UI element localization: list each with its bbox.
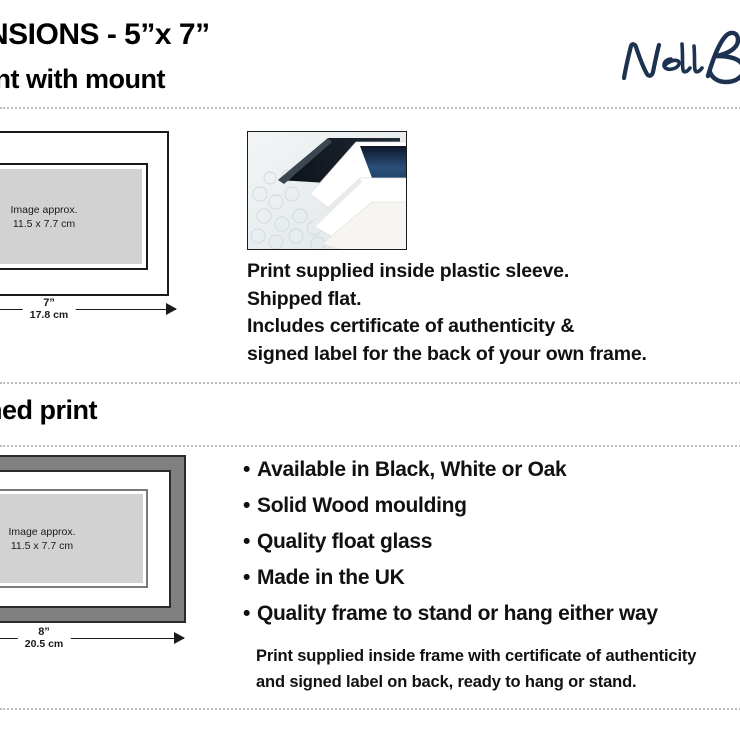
bullet-icon: • bbox=[243, 560, 257, 596]
list-item: •Solid Wood moulding bbox=[243, 488, 740, 524]
dimension-values: 8” 20.5 cm bbox=[18, 626, 71, 651]
mount-description-line-3: Includes certificate of authenticity & bbox=[247, 313, 740, 341]
bullet-icon: • bbox=[243, 488, 257, 524]
arrow-head-icon bbox=[166, 303, 177, 315]
bullet-icon: • bbox=[243, 596, 257, 632]
frame-image-area: Image approx. 11.5 x 7.7 cm bbox=[0, 494, 143, 583]
bullet-icon: • bbox=[243, 452, 257, 488]
frame-image-label-line1: Image approx. bbox=[8, 525, 75, 539]
divider-footer bbox=[0, 708, 740, 710]
dimension-inches: 8” bbox=[25, 626, 64, 638]
dimension-inches: 7” bbox=[30, 297, 69, 309]
list-item-label: Solid Wood moulding bbox=[257, 494, 467, 517]
mount-description-line-2: Shipped flat. bbox=[247, 286, 740, 314]
list-item: •Quality float glass bbox=[243, 524, 740, 560]
page-subtitle: Print with mount bbox=[0, 64, 165, 95]
frame-image-label-line2: 11.5 x 7.7 cm bbox=[11, 539, 73, 553]
mount-image-area: Image approx. 11.5 x 7.7 cm bbox=[0, 169, 142, 264]
photo-illustration bbox=[248, 132, 407, 250]
frame-features-list: •Available in Black, White or Oak •Solid… bbox=[243, 452, 740, 632]
list-item: •Available in Black, White or Oak bbox=[243, 452, 740, 488]
dimension-values: 7” 17.8 cm bbox=[23, 297, 76, 322]
dimension-cm: 17.8 cm bbox=[30, 309, 69, 322]
framed-print-title: Framed print bbox=[0, 395, 97, 426]
page-header: DIMENSIONS - 5”x 7” Print with mount NB bbox=[0, 0, 740, 108]
mount-description-line-4: signed label for the back of your own fr… bbox=[247, 341, 740, 369]
divider-below-framed-title bbox=[0, 445, 740, 447]
list-item-label: Available in Black, White or Oak bbox=[257, 458, 566, 481]
arrow-head-icon bbox=[174, 632, 185, 644]
divider-above-framed-section bbox=[0, 382, 740, 384]
list-item-label: Made in the UK bbox=[257, 566, 404, 589]
brand-signature-logo: NB bbox=[612, 26, 740, 98]
dimensions-info-page: DIMENSIONS - 5”x 7” Print with mount NB … bbox=[0, 0, 740, 736]
frame-diagram-window: Image approx. 11.5 x 7.7 cm bbox=[0, 489, 148, 588]
mount-description: Print supplied inside plastic sleeve. Sh… bbox=[247, 258, 740, 368]
list-item-label: Quality frame to stand or hang either wa… bbox=[257, 602, 658, 625]
list-item: •Made in the UK bbox=[243, 560, 740, 596]
signature-icon bbox=[612, 26, 740, 98]
page-title: DIMENSIONS - 5”x 7” bbox=[0, 18, 210, 52]
frame-width-dimension: 8” 20.5 cm bbox=[0, 629, 184, 659]
mount-image-label-line1: Image approx. bbox=[10, 203, 77, 217]
mount-diagram-window: Image approx. 11.5 x 7.7 cm bbox=[0, 163, 148, 270]
list-item-label: Quality float glass bbox=[257, 530, 432, 553]
divider-below-header bbox=[0, 107, 740, 109]
list-item: •Quality frame to stand or hang either w… bbox=[243, 596, 740, 632]
frame-description-line-2: and signed label on back, ready to hang … bbox=[256, 669, 740, 695]
dimension-cm: 20.5 cm bbox=[25, 638, 64, 651]
mounted-prints-photo bbox=[247, 131, 407, 250]
bullet-icon: • bbox=[243, 524, 257, 560]
mount-image-label-line2: 11.5 x 7.7 cm bbox=[13, 217, 75, 231]
mount-description-line-1: Print supplied inside plastic sleeve. bbox=[247, 258, 740, 286]
mount-width-dimension: 7” 17.8 cm bbox=[0, 300, 176, 330]
frame-description: Print supplied inside frame with certifi… bbox=[256, 643, 740, 695]
frame-description-line-1: Print supplied inside frame with certifi… bbox=[256, 643, 740, 669]
